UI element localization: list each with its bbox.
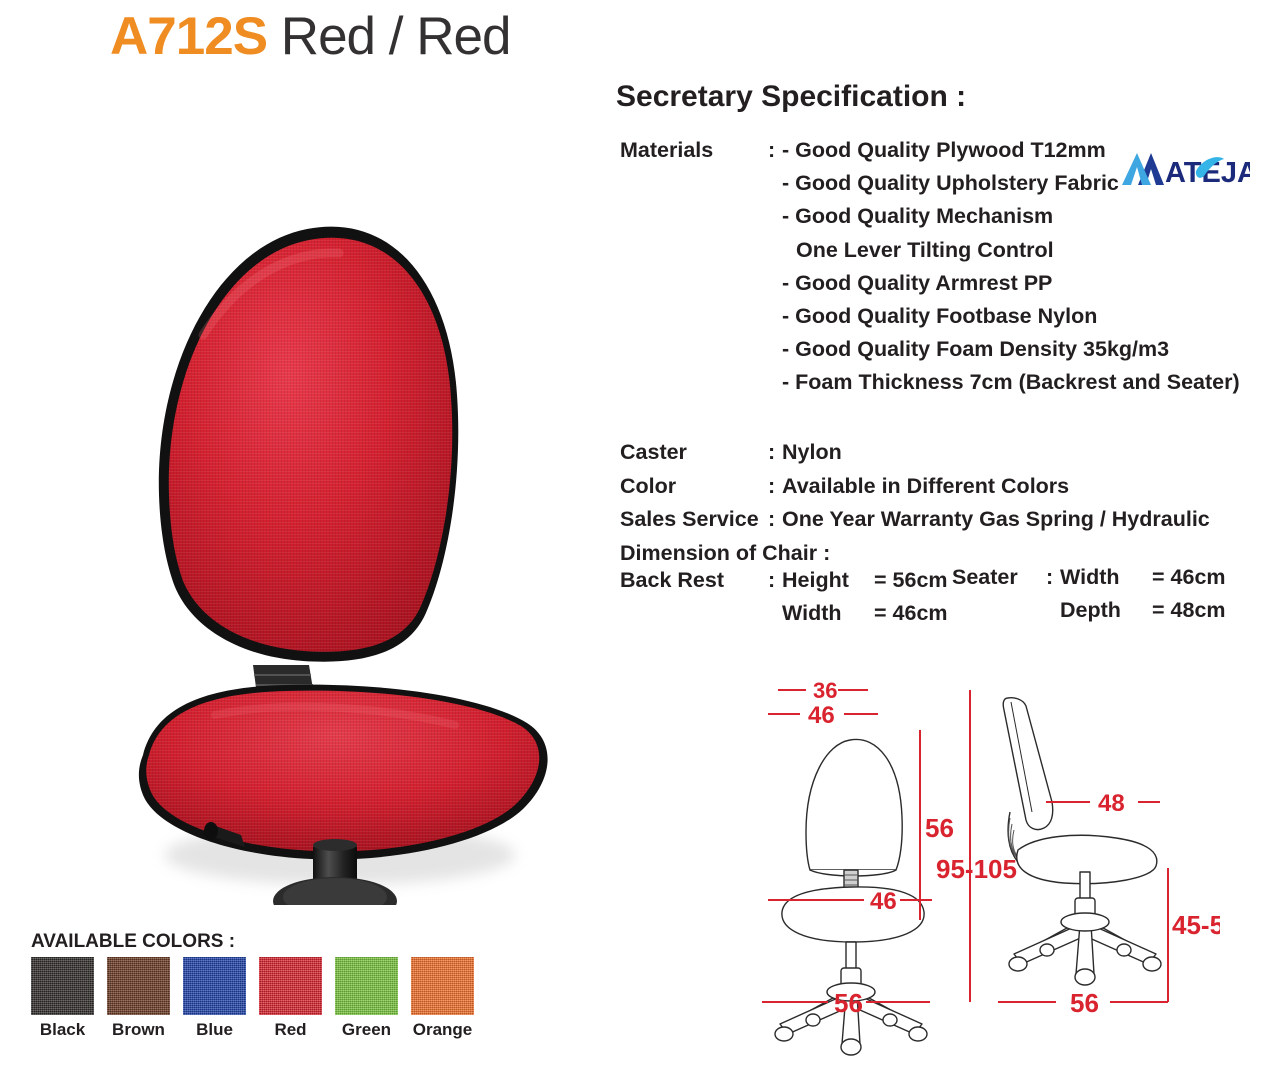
swatch-chip[interactable] xyxy=(183,957,246,1015)
material-item: - Good Quality Armrest PP xyxy=(782,267,1052,300)
material-item: - Good Quality Foam Density 35kg/m3 xyxy=(782,333,1169,366)
detail-label: Sales Service xyxy=(620,503,768,537)
material-item: - Good Quality Upholstery Fabric xyxy=(782,167,1119,200)
seater-key: Depth xyxy=(1060,598,1152,623)
detail-value: Available in Different Colors xyxy=(782,470,1069,504)
color-swatch-black[interactable]: Black xyxy=(31,957,94,1040)
swatch-chip[interactable] xyxy=(31,957,94,1015)
dim-seat-height: 45-55 xyxy=(1172,910,1220,940)
swatch-label: Blue xyxy=(183,1020,246,1040)
materials-row: - Good Quality Mechanism xyxy=(620,200,1240,233)
seater-dimension-row: Depth= 48cm xyxy=(952,598,1226,623)
dim-backrest-width-top: 36 xyxy=(813,678,837,703)
dimension-heading: Dimension of Chair : xyxy=(620,537,830,571)
materials-row: One Lever Tilting Control xyxy=(620,234,1240,267)
spec-heading: Secretary Specification : xyxy=(616,80,966,114)
detail-row-sales-service: Sales Service : One Year Warranty Gas Sp… xyxy=(620,503,1210,537)
material-item: - Good Quality Plywood T12mm xyxy=(782,134,1106,167)
page-title: A712S Red / Red xyxy=(110,6,510,67)
dim-seat-width: 46 xyxy=(870,888,897,915)
chair-backrest xyxy=(159,227,458,662)
seater-colon: : xyxy=(1046,565,1060,590)
materials-row: - Good Quality Footbase Nylon xyxy=(620,300,1240,333)
technical-drawings: 36 46 56 46 56 95-105 48 45-55 56 xyxy=(760,672,1220,1062)
color-swatch-red[interactable]: Red xyxy=(259,957,322,1040)
backrest-value: = 46cm xyxy=(874,601,948,626)
material-item: - Foam Thickness 7cm (Backrest and Seate… xyxy=(782,366,1240,399)
swatch-label: Green xyxy=(335,1020,398,1040)
backrest-label: Back Rest xyxy=(620,568,768,593)
seater-label: Seater xyxy=(952,565,1046,590)
detail-value: One Year Warranty Gas Spring / Hydraulic xyxy=(782,503,1210,537)
product-variant: Red / Red xyxy=(281,7,511,66)
dim-overall-height: 95-105 xyxy=(936,854,1017,884)
dim-base-width-side: 56 xyxy=(1070,988,1099,1018)
available-colors-title: AVAILABLE COLORS : xyxy=(31,931,235,953)
swatch-label: Red xyxy=(259,1020,322,1040)
detail-row-color: Color : Available in Different Colors xyxy=(620,470,1210,504)
materials-row: - Foam Thickness 7cm (Backrest and Seate… xyxy=(620,366,1240,399)
product-code: A712S xyxy=(110,7,267,66)
detail-row-caster: Caster : Nylon xyxy=(620,436,1210,470)
detail-colon: : xyxy=(768,436,782,470)
materials-label: Materials xyxy=(620,134,768,167)
dim-base-width-front: 56 xyxy=(834,988,863,1018)
swatch-label: Orange xyxy=(411,1020,474,1040)
side-view-drawing xyxy=(1003,698,1161,985)
detail-label: Caster xyxy=(620,436,768,470)
swatch-chip[interactable] xyxy=(335,957,398,1015)
seater-dimension-row: Seater:Width= 46cm xyxy=(952,565,1226,590)
color-swatch-strip: Black Brown Blue Red Green Orange xyxy=(31,957,474,1040)
backrest-key: Width xyxy=(782,601,874,626)
product-photo xyxy=(95,195,565,905)
materials-row: - Good Quality Armrest PP xyxy=(620,267,1240,300)
detail-colon: : xyxy=(768,503,782,537)
color-swatch-blue[interactable]: Blue xyxy=(183,957,246,1040)
chair-base xyxy=(130,877,540,905)
seater-value: = 46cm xyxy=(1152,565,1226,590)
dim-backrest-height: 56 xyxy=(925,813,954,843)
color-swatch-brown[interactable]: Brown xyxy=(107,957,170,1040)
details-block: Caster : Nylon Color : Available in Diff… xyxy=(620,436,1210,570)
backrest-dimension-row: Back Rest:Height= 56cm xyxy=(620,568,948,593)
backrest-value: = 56cm xyxy=(874,568,948,593)
material-item: - Good Quality Mechanism xyxy=(782,200,1053,233)
swatch-chip[interactable] xyxy=(107,957,170,1015)
backrest-dimension-row: Width= 46cm xyxy=(620,601,948,626)
detail-label: Color xyxy=(620,470,768,504)
dim-seat-depth: 48 xyxy=(1098,790,1125,817)
swatch-chip[interactable] xyxy=(411,957,474,1015)
backrest-colon: : xyxy=(768,568,782,593)
detail-colon: : xyxy=(768,470,782,504)
swatch-label: Black xyxy=(31,1020,94,1040)
seater-key: Width xyxy=(1060,565,1152,590)
backrest-key: Height xyxy=(782,568,874,593)
seater-value: = 48cm xyxy=(1152,598,1226,623)
chair-seat xyxy=(139,685,548,860)
materials-colon: : xyxy=(768,134,782,167)
ateja-mountain-icon xyxy=(1122,153,1164,185)
color-swatch-green[interactable]: Green xyxy=(335,957,398,1040)
dim-backrest-width: 46 xyxy=(808,702,835,729)
swatch-chip[interactable] xyxy=(259,957,322,1015)
swatch-label: Brown xyxy=(107,1020,170,1040)
material-item: - Good Quality Footbase Nylon xyxy=(782,300,1097,333)
materials-row: - Good Quality Foam Density 35kg/m3 xyxy=(620,333,1240,366)
detail-value: Nylon xyxy=(782,436,842,470)
ateja-logo: ATEJA xyxy=(1118,147,1250,193)
color-swatch-orange[interactable]: Orange xyxy=(411,957,474,1040)
material-item: One Lever Tilting Control xyxy=(782,234,1054,267)
